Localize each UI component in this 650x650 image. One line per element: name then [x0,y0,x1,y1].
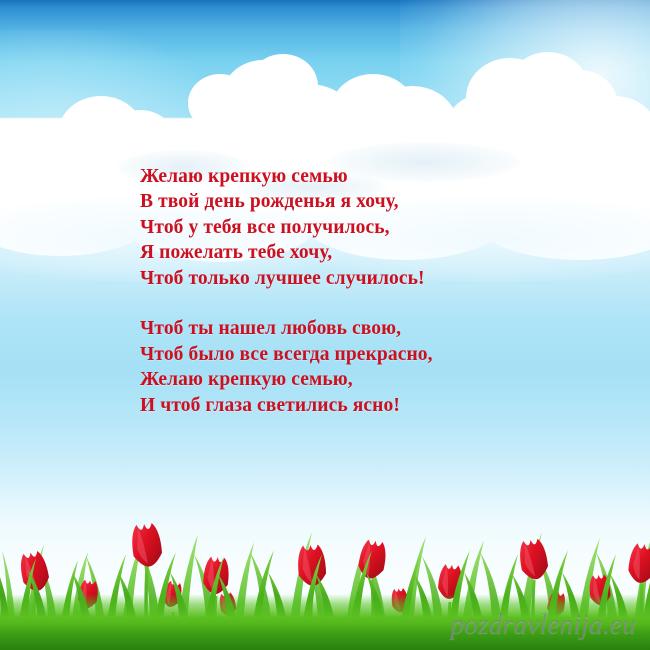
cloud-puff [188,74,252,132]
poem-text: Желаю крепкую семью В твой день рожденья… [140,164,570,418]
poem-line: Желаю крепкую семью, [140,367,570,392]
poem-line: Чтоб ты нашел любовь свою, [140,316,570,341]
poem-line: Чтоб только лучшее случилось! [140,266,570,291]
grass-base-shadow [0,624,650,650]
poem-line: В твой день рожденья я хочу, [140,189,570,214]
poem-line: Желаю крепкую семью [140,164,570,189]
poem-line: Чтоб было все всегда прекрасно, [140,342,570,367]
poem-stanza-1: Желаю крепкую семью В твой день рожденья… [140,164,570,291]
greeting-card: Желаю крепкую семью В твой день рожденья… [0,0,650,650]
tulip [356,539,388,581]
poem-line: Чтоб у тебя все получилось, [140,215,570,240]
poem-stanza-2: Чтоб ты нашел любовь свою, Чтоб было все… [140,316,570,418]
poem-line: Я пожелать тебе хочу, [140,240,570,265]
tulip [627,543,650,585]
poem-line: И чтоб глаза светились ясно! [140,393,570,418]
meadow [0,510,650,650]
